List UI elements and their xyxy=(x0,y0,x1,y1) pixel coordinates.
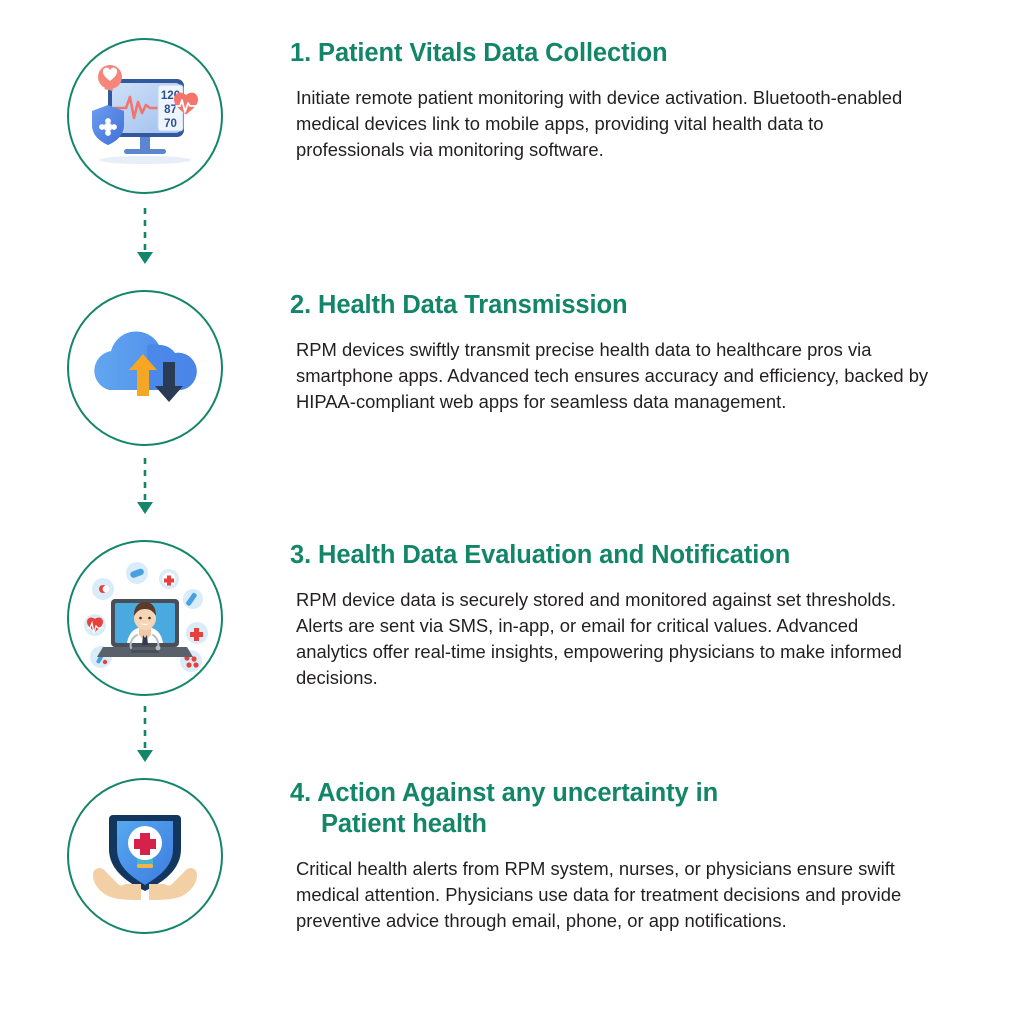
rpm-process-infographic: 120 87 70 xyxy=(0,0,1024,1022)
step-item-3: 3. Health Data Evaluation and Notificati… xyxy=(0,540,1024,696)
step-2-icon-column xyxy=(0,290,290,446)
vitals-monitor-icon: 120 87 70 xyxy=(86,61,204,171)
connector-2-to-3 xyxy=(132,458,158,520)
step-4-body: Critical health alerts from RPM system, … xyxy=(296,856,924,934)
step-1-body: Initiate remote patient monitoring with … xyxy=(296,85,926,163)
step-4-icon-column xyxy=(0,778,290,934)
step-1-text-column: 1. Patient Vitals Data Collection Initia… xyxy=(290,38,1024,163)
step-1-title: 1. Patient Vitals Data Collection xyxy=(290,38,968,69)
connector-1-to-2 xyxy=(132,208,158,270)
step-3-icon-ring xyxy=(67,540,223,696)
step-2-text-column: 2. Health Data Transmission RPM devices … xyxy=(290,290,1024,415)
vitals-reading-pulse: 70 xyxy=(164,118,177,130)
step-3-icon-column xyxy=(0,540,290,696)
step-item-2: 2. Health Data Transmission RPM devices … xyxy=(0,290,1024,446)
vitals-reading-diastolic: 87 xyxy=(164,104,177,116)
connector-3-to-4 xyxy=(132,706,158,768)
step-2-body: RPM devices swiftly transmit precise hea… xyxy=(296,337,941,415)
telehealth-laptop-icon xyxy=(81,559,209,677)
step-item-1: 120 87 70 xyxy=(0,38,1024,194)
shield-care-icon xyxy=(89,803,201,909)
step-3-text-column: 3. Health Data Evaluation and Notificati… xyxy=(290,540,1024,691)
step-2-icon-ring xyxy=(67,290,223,446)
step-3-title: 3. Health Data Evaluation and Notificati… xyxy=(290,540,968,571)
step-1-icon-ring: 120 87 70 xyxy=(67,38,223,194)
step-3-body: RPM device data is securely stored and m… xyxy=(296,587,921,692)
cloud-transfer-icon xyxy=(85,318,205,418)
step-item-4: 4. Action Against any uncertainty in Pat… xyxy=(0,778,1024,934)
step-1-icon-column: 120 87 70 xyxy=(0,38,290,194)
step-4-text-column: 4. Action Against any uncertainty in Pat… xyxy=(290,778,1024,934)
step-4-icon-ring xyxy=(67,778,223,934)
step-2-title: 2. Health Data Transmission xyxy=(290,290,968,321)
step-4-title: 4. Action Against any uncertainty in Pat… xyxy=(290,778,968,840)
